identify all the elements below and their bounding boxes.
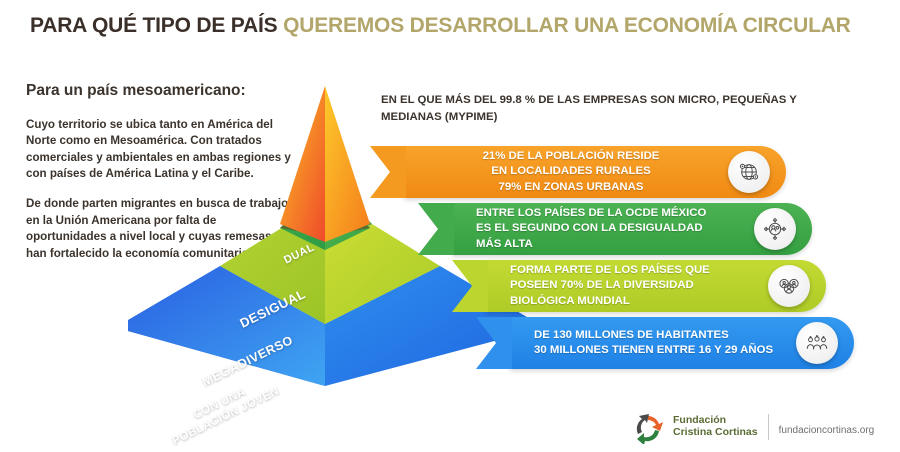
mypime-note: EN EL QUE MÁS DEL 99.8 % DE LAS EMPRESAS… [381,92,851,125]
fundacion-logo-icon [630,412,666,444]
callout-text-4: DE 130 MILLONES DE HABITANTES 30 MILLONE… [510,328,796,358]
callout-bar-desigualdad-ocde: ENTRE LOS PAÍSES DE LA OCDE MÉXICO ES EL… [452,203,812,255]
logo-line-2: Cristina Cortinas [673,426,758,438]
callout-text-1: 21% DE LA POBLACIÓN RESIDE EN LOCALIDADE… [404,149,728,194]
callout-tail-1 [370,146,406,198]
callout-tail-2 [418,203,454,255]
footer-url[interactable]: fundacioncortinas.org [779,412,875,436]
page-title-primary: PARA QUÉ TIPO DE PAÍS [30,14,277,37]
callout-tail-4 [476,317,512,369]
callout-line: FORMA PARTE DE LOS PAÍSES QUE [510,263,768,278]
callout-bar-poblacion-rural-urbana: 21% DE LA POBLACIÓN RESIDE EN LOCALIDADE… [404,146,786,198]
biodiversity-people-icon [768,265,810,307]
callout-line: 79% EN ZONAS URBANAS [414,180,728,195]
callout-line: ES EL SEGUNDO CON LA DESIGUALDAD [476,221,754,236]
globe-pins-icon [728,151,770,193]
pyramid-tier-dual [280,86,370,242]
logo-line-1: Fundación [673,414,758,426]
callout-text-2: ENTRE LOS PAÍSES DE LA OCDE MÉXICO ES EL… [452,206,754,251]
page-title: PARA QUÉ TIPO DE PAÍS QUEREMOS DESARROLL… [30,14,880,44]
footer-divider [768,414,769,440]
callout-line: BIOLÓGICA MUNDIAL [510,294,768,309]
callout-text-3: FORMA PARTE DE LOS PAÍSES QUE POSEEN 70%… [486,263,768,308]
page-title-secondary: QUEREMOS DESARROLLAR UNA ECONOMÍA CIRCUL… [277,14,850,37]
network-people-icon [754,208,796,250]
footer: Fundación Cristina Cortinas fundacioncor… [630,412,900,444]
callout-bar-diversidad-biologica: FORMA PARTE DE LOS PAÍSES QUE POSEEN 70%… [486,260,826,312]
callout-line: 21% DE LA POBLACIÓN RESIDE [414,149,728,164]
callout-line: 30 MILLONES TIENEN ENTRE 16 Y 29 AÑOS [534,343,796,358]
callout-line: EN LOCALIDADES RURALES [414,164,728,179]
callout-line: DE 130 MILLONES DE HABITANTES [534,328,796,343]
callout-line: ENTRE LOS PAÍSES DE LA OCDE MÉXICO [476,206,754,221]
fundacion-logo-text: Fundación Cristina Cortinas [673,412,758,438]
callout-bar-poblacion-joven: DE 130 MILLONES DE HABITANTES 30 MILLONE… [510,317,854,369]
callout-tail-3 [452,260,488,312]
callout-line: MÁS ALTA [476,237,754,252]
callout-line: POSEEN 70% DE LA DIVERSIDAD [510,278,768,293]
group-people-icon [796,322,838,364]
